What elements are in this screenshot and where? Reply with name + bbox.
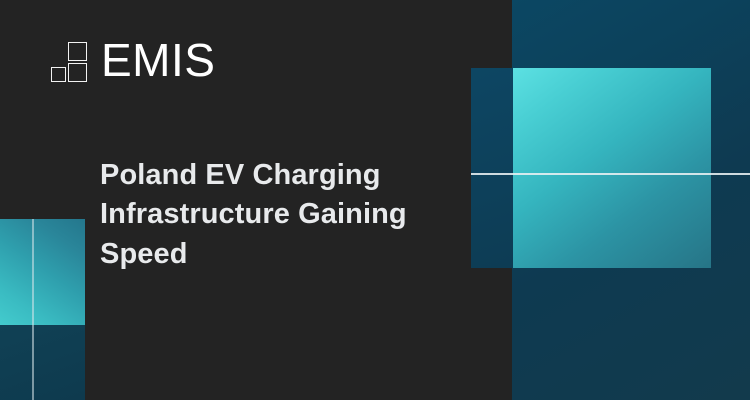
teal-pane-shape [513,68,711,268]
emis-logo[interactable]: EMIS [50,37,215,83]
emis-squares-mark-icon [50,40,90,80]
emis-article-banner: EMIS Poland EV Charging Infrastructure G… [0,0,750,400]
left-navy-shape [0,325,85,400]
navy-column-shape [512,0,750,400]
square-bottom-right-icon [68,63,87,82]
vertical-rule-line [32,219,34,400]
square-bottom-left-icon [51,67,66,82]
page-title: Poland EV Charging Infrastructure Gainin… [100,156,472,274]
horizontal-rule-line [471,173,750,175]
square-top-right-icon [68,42,87,61]
emis-wordmark: EMIS [101,37,215,83]
left-teal-shape [0,219,85,325]
navy-block-shape [471,68,513,268]
